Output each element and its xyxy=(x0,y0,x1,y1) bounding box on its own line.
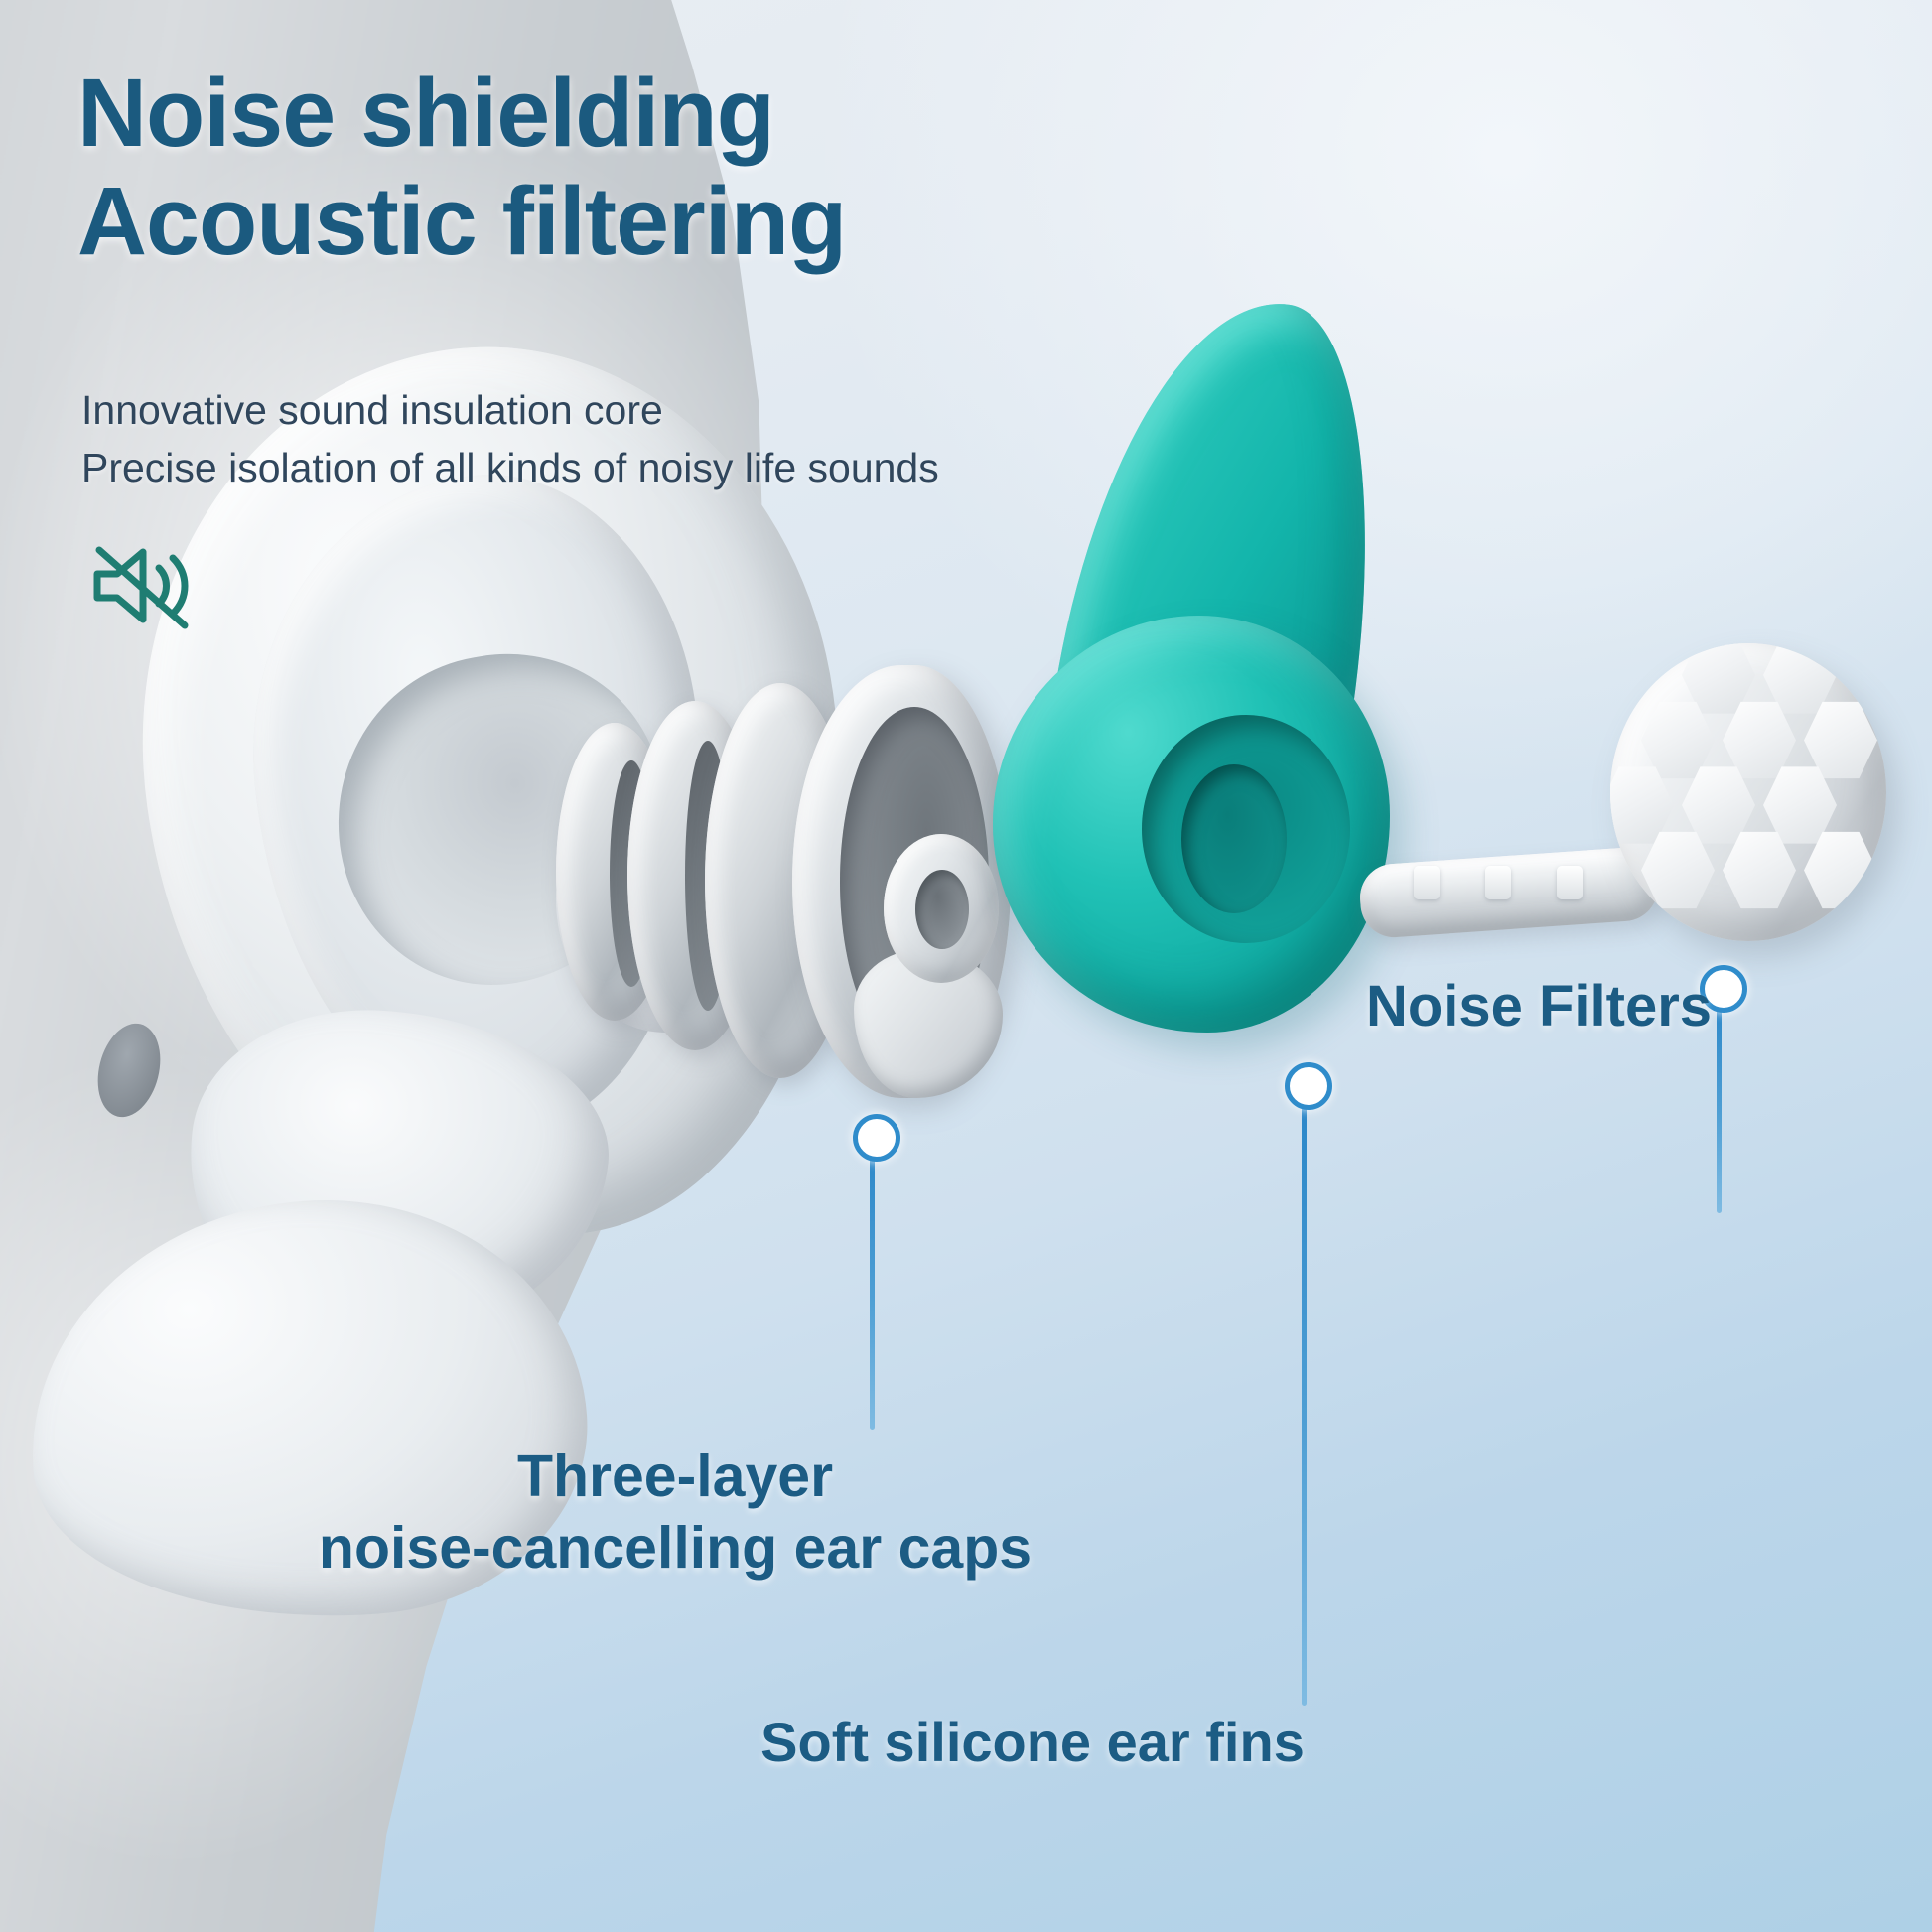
callout-label-ear-fins: Soft silicone ear fins xyxy=(735,1710,1330,1774)
callout-label-ear-caps-line1: Three-layer xyxy=(298,1442,1052,1513)
callout-label-noise-filters: Noise Filters xyxy=(1172,973,1906,1039)
filter-stem-notch-1 xyxy=(1414,866,1440,899)
noise-filter-disc xyxy=(1610,643,1886,941)
ear-fin-bore xyxy=(1181,764,1287,913)
subtitle-line-1: Innovative sound insulation core xyxy=(81,381,1124,439)
callout-line-ear-caps xyxy=(870,1142,875,1430)
callout-line-ear-fins xyxy=(1302,1090,1307,1706)
subtitle-line-2: Precise isolation of all kinds of noisy … xyxy=(81,439,1124,496)
ear-cap-sound-bore xyxy=(915,870,969,949)
callout-dot-ear-caps[interactable] xyxy=(853,1114,900,1162)
mute-speaker-icon xyxy=(85,536,195,635)
callout-label-ear-caps: Three-layer noise-cancelling ear caps xyxy=(298,1442,1052,1585)
headline-line-1: Noise shielding xyxy=(77,60,1170,168)
callout-label-ear-caps-line2: noise-cancelling ear caps xyxy=(298,1513,1052,1585)
filter-stem-notch-3 xyxy=(1557,866,1583,899)
page-title: Noise shielding Acoustic filtering xyxy=(77,60,1170,275)
filter-stem-notch-2 xyxy=(1485,866,1511,899)
subtitle: Innovative sound insulation core Precise… xyxy=(81,381,1124,496)
headline-line-2: Acoustic filtering xyxy=(77,168,1170,276)
product-infographic: Noise shielding Acoustic filtering Innov… xyxy=(0,0,1932,1932)
callout-dot-ear-fins[interactable] xyxy=(1285,1062,1332,1110)
